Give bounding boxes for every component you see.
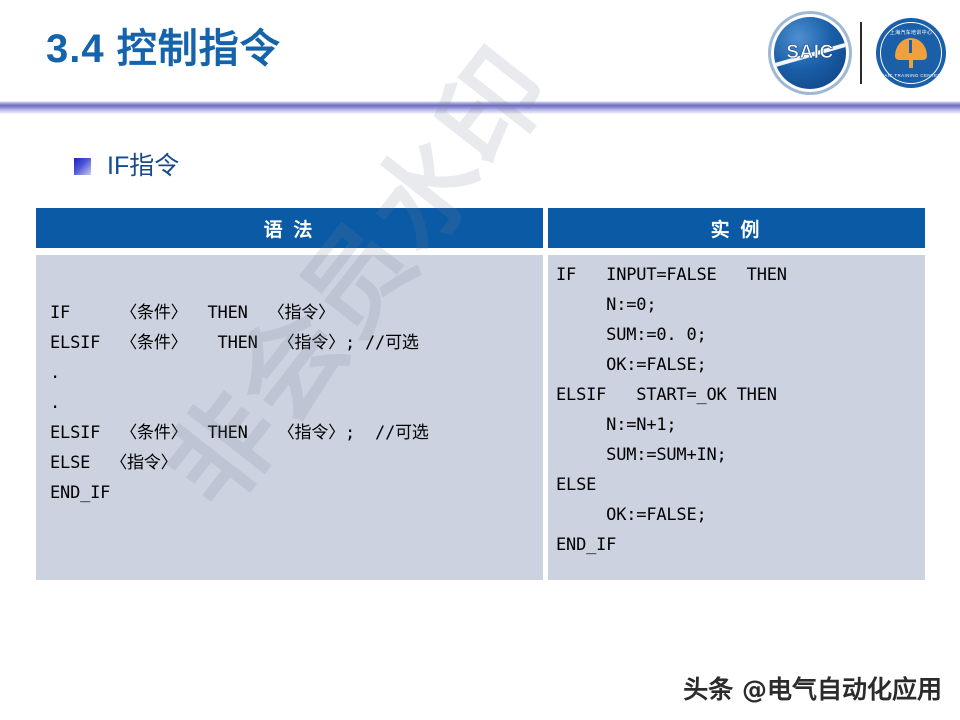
table-header-syntax: 语 法 <box>36 208 543 248</box>
section-heading: IF指令 <box>74 152 179 180</box>
bottom-watermark: 头条 @电气自动化应用 <box>683 670 942 706</box>
saic-training-center-logo: 上海汽车培训中心 SAIC TRAINING CENTER <box>876 18 946 88</box>
logo-group: SAIC 上海汽车培训中心 SAIC TRAINING CENTER <box>774 14 946 92</box>
slide-root: 3.4 控制指令 SAIC 上海汽车培训中心 SAIC TRAINING CEN… <box>0 0 960 720</box>
page-title: 3.4 控制指令 <box>46 22 281 76</box>
table-cell-example: IF INPUT=FALSE THEN N:=0; SUM:=0. 0; OK:… <box>548 255 925 580</box>
syntax-example-table: 语 法 IF 〈条件〉 THEN 〈指令〉 ELSIF 〈条件〉 THEN 〈指… <box>36 208 925 580</box>
saic-logo-text: SAIC <box>786 42 833 64</box>
logo-divider <box>860 22 862 84</box>
ginkgo-leaf-icon <box>895 38 927 68</box>
training-logo-top-text: 上海汽车培训中心 <box>876 29 946 36</box>
square-bullet-icon <box>74 158 91 175</box>
saic-logo: SAIC <box>774 17 846 89</box>
slide-header: 3.4 控制指令 SAIC 上海汽车培训中心 SAIC TRAINING CEN… <box>0 0 960 104</box>
training-logo-bottom-text: SAIC TRAINING CENTER <box>876 73 946 78</box>
table-header-gap <box>548 248 925 255</box>
header-divider <box>0 101 960 114</box>
example-code-text: IF INPUT=FALSE THEN N:=0; SUM:=0. 0; OK:… <box>548 255 925 560</box>
table-header-gap <box>36 248 543 255</box>
section-heading-label: IF指令 <box>107 152 179 180</box>
syntax-code-text: IF 〈条件〉 THEN 〈指令〉 ELSIF 〈条件〉 THEN 〈指令〉; … <box>36 255 543 508</box>
table-cell-syntax: IF 〈条件〉 THEN 〈指令〉 ELSIF 〈条件〉 THEN 〈指令〉; … <box>36 255 543 580</box>
table-column-example: 实 例 IF INPUT=FALSE THEN N:=0; SUM:=0. 0;… <box>548 208 925 580</box>
table-header-example: 实 例 <box>548 208 925 248</box>
table-column-syntax: 语 法 IF 〈条件〉 THEN 〈指令〉 ELSIF 〈条件〉 THEN 〈指… <box>36 208 543 580</box>
